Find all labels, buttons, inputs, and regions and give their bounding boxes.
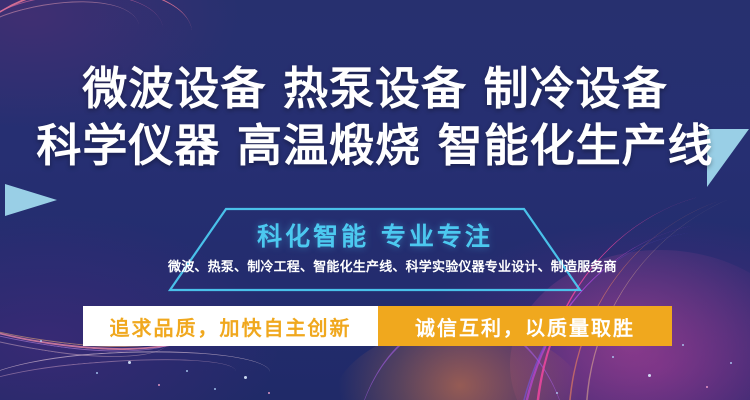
headline-block: 微波设备 热泵设备 制冷设备 科学仪器 高温煅烧 智能化生产线	[0, 60, 750, 174]
promo-banner: 微波设备 热泵设备 制冷设备 科学仪器 高温煅烧 智能化生产线 科化智能 专业专…	[0, 0, 750, 400]
sparkle-dot	[158, 384, 160, 386]
headline-line-1: 微波设备 热泵设备 制冷设备	[0, 60, 750, 117]
sparkle-dot	[556, 392, 558, 394]
sparkle-dot	[214, 388, 216, 390]
tagline-text: 科化智能 专业专注	[168, 222, 582, 252]
sparkle-dot	[648, 374, 651, 377]
sparkle-dot	[128, 361, 131, 364]
sparkle-dot	[682, 344, 684, 346]
sparkle-dot	[612, 356, 614, 358]
slogan-bar: 追求品质，加快自主创新 诚信互利，以质量取胜	[83, 306, 672, 346]
sparkle-dot	[730, 362, 732, 364]
sparkle-dot	[268, 392, 270, 394]
headline-line-2: 科学仪器 高温煅烧 智能化生产线	[0, 117, 750, 174]
sparkle-dot	[706, 386, 708, 388]
sparkle-dot	[186, 370, 188, 372]
slogan-right: 诚信互利，以质量取胜	[378, 306, 672, 346]
tagline-subtitle: 微波、热泵、制冷工程、智能化生产线、科学实验仪器专业设计、制造服务商	[168, 259, 582, 276]
sparkle-dot	[40, 340, 42, 342]
triangle-right-icon	[5, 184, 57, 216]
slogan-left: 追求品质，加快自主创新	[83, 306, 378, 346]
sparkle-dot	[244, 376, 247, 379]
tagline-panel: 科化智能 专业专注 微波、热泵、制冷工程、智能化生产线、科学实验仪器专业设计、制…	[168, 202, 582, 294]
sparkle-dot	[96, 372, 98, 374]
